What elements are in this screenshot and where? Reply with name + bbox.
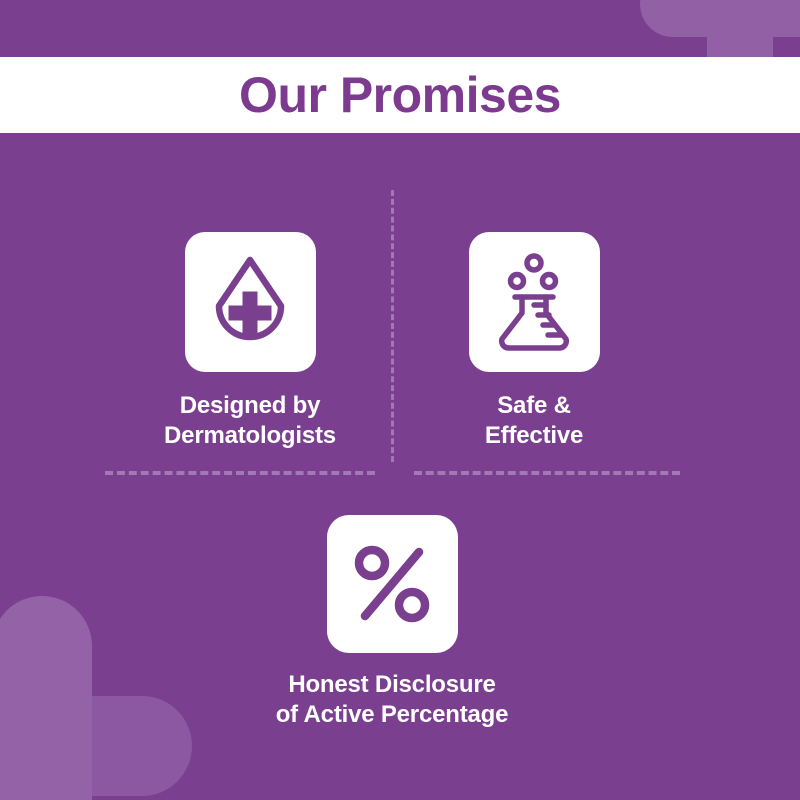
flask-bubbles-icon	[488, 252, 580, 352]
promises-poster: Our Promises Designed by Dermatologists	[0, 0, 800, 800]
percent-icon	[351, 542, 433, 626]
promise-item-safe-and-effective: Safe & Effective	[404, 232, 664, 451]
cross-horizontal-bar	[640, 0, 800, 37]
page-title: Our Promises	[239, 70, 561, 120]
promise-item-honest-disclosure: Honest Disclosure of Active Percentage	[262, 515, 522, 730]
icon-card	[327, 515, 458, 653]
droplet-plus-icon	[204, 254, 296, 350]
promise-label: Safe & Effective	[485, 391, 583, 451]
divider-vertical-dashed	[391, 190, 394, 462]
promise-label: Honest Disclosure of Active Percentage	[276, 670, 509, 730]
icon-card	[185, 232, 316, 372]
title-band: Our Promises	[0, 57, 800, 133]
promise-item-designed-by-dermatologists: Designed by Dermatologists	[120, 232, 380, 451]
divider-horizontal-right-dashed	[414, 471, 680, 475]
cross-bottom-left-decoration	[0, 596, 192, 800]
icon-card	[469, 232, 600, 372]
cross-vertical-bar	[0, 596, 92, 800]
promise-label: Designed by Dermatologists	[164, 391, 336, 451]
cross-horizontal-bar	[0, 696, 192, 796]
divider-horizontal-left-dashed	[105, 471, 375, 475]
